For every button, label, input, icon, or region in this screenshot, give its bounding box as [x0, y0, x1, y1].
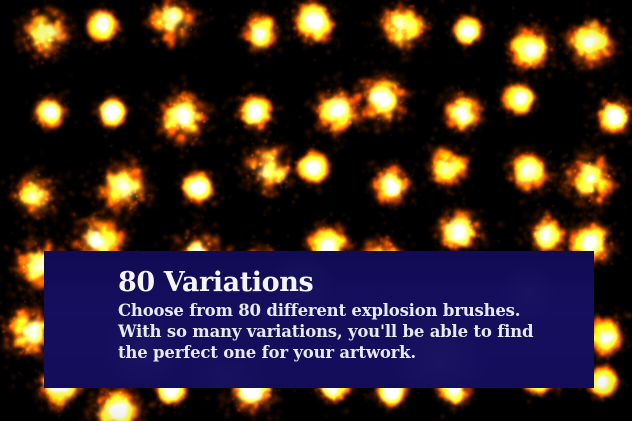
- caption-text-block: 80 Variations Choose from 80 different e…: [44, 251, 594, 363]
- promo-graphic: 80 Variations Choose from 80 different e…: [0, 0, 632, 421]
- page-title: 80 Variations: [118, 268, 594, 298]
- caption-banner: 80 Variations Choose from 80 different e…: [44, 251, 594, 388]
- description-line-3: the perfect one for your artwork.: [118, 342, 594, 363]
- description-line-1: Choose from 80 different explosion brush…: [118, 300, 594, 321]
- description-line-2: With so many variations, you'll be able …: [118, 321, 594, 342]
- description-text: Choose from 80 different explosion brush…: [118, 300, 594, 363]
